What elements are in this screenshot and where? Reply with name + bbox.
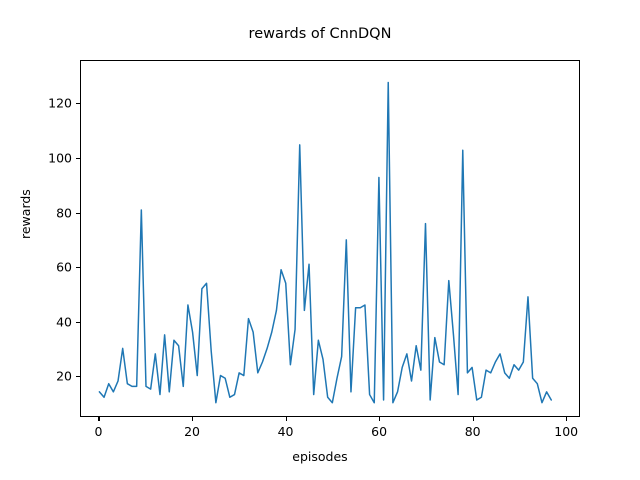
x-tick-mark bbox=[379, 417, 380, 421]
chart-title: rewards of CnnDQN bbox=[0, 26, 640, 42]
x-tick-label: 0 bbox=[94, 424, 102, 439]
x-axis-label: episodes bbox=[0, 449, 640, 464]
y-tick-label: 60 bbox=[30, 260, 72, 275]
x-tick-mark bbox=[566, 417, 567, 421]
x-tick-label: 80 bbox=[465, 424, 481, 439]
y-tick-label: 100 bbox=[30, 150, 72, 165]
plot-axes bbox=[80, 60, 580, 417]
y-tick-label: 120 bbox=[30, 96, 72, 111]
y-tick-label: 20 bbox=[30, 369, 72, 384]
x-tick-label: 20 bbox=[184, 424, 200, 439]
reward-line-chart bbox=[81, 61, 579, 416]
x-tick-label: 60 bbox=[371, 424, 387, 439]
x-tick-mark bbox=[192, 417, 193, 421]
x-tick-mark bbox=[473, 417, 474, 421]
x-tick-label: 100 bbox=[554, 424, 578, 439]
x-tick-mark bbox=[286, 417, 287, 421]
x-tick-mark bbox=[98, 417, 99, 421]
y-tick-label: 40 bbox=[30, 314, 72, 329]
x-tick-label: 40 bbox=[278, 424, 294, 439]
matplotlib-figure: rewards of CnnDQN rewards episodes 20406… bbox=[0, 0, 640, 480]
y-tick-label: 80 bbox=[30, 205, 72, 220]
rewards-line-series bbox=[99, 82, 551, 402]
